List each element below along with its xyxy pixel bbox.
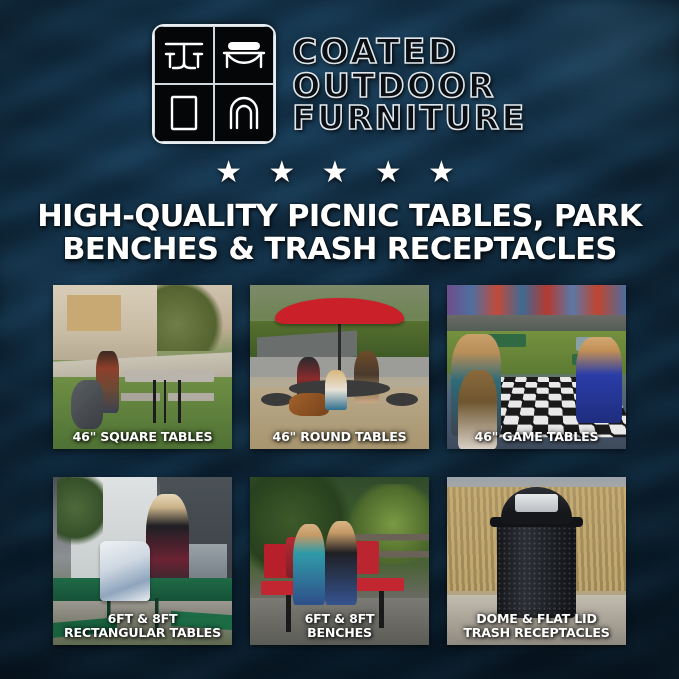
- star-rating: ★ ★ ★ ★ ★: [0, 158, 679, 188]
- product-tile-trash-receptacles[interactable]: DOME & FLAT LID TRASH RECEPTACLES: [447, 477, 626, 645]
- picnic-table-icon: [154, 26, 214, 84]
- trash-receptacle-icon: [154, 84, 214, 142]
- product-caption-line-1: 46" SQUARE TABLES: [73, 429, 213, 444]
- product-tile-round-tables[interactable]: 46" ROUND TABLES: [250, 285, 429, 449]
- product-caption: 6FT & 8FT RECTANGULAR TABLES: [57, 612, 228, 639]
- product-tile-game-tables[interactable]: 46" GAME TABLES: [447, 285, 626, 449]
- logo-icon-grid: [152, 24, 276, 144]
- product-caption-line-2: RECTANGULAR TABLES: [57, 626, 228, 639]
- product-tile-rectangular-tables[interactable]: 6FT & 8FT RECTANGULAR TABLES: [53, 477, 232, 645]
- product-caption-line-2: TRASH RECEPTACLES: [451, 626, 622, 639]
- product-tile-square-tables[interactable]: 46" SQUARE TABLES: [53, 285, 232, 449]
- brand-name-line-1: COATED: [292, 36, 526, 69]
- brand-logo: COATED OUTDOOR FURNITURE: [0, 24, 679, 144]
- brand-name-line-2: OUTDOOR: [292, 70, 526, 102]
- park-bench-icon: [214, 26, 274, 84]
- headline-line-1: HIGH-QUALITY PICNIC TABLES, PARK: [37, 199, 642, 234]
- product-caption: 46" ROUND TABLES: [254, 430, 425, 443]
- product-caption-line-2: BENCHES: [254, 626, 425, 639]
- brand-wordmark: COATED OUTDOOR FURNITURE: [292, 34, 526, 134]
- bike-rack-icon: [214, 84, 274, 142]
- banner-content: COATED OUTDOOR FURNITURE ★ ★ ★ ★ ★ HIGH-…: [0, 0, 679, 679]
- product-photo: [447, 285, 626, 449]
- brand-name-line-3: FURNITURE: [292, 102, 526, 134]
- promo-banner: COATED OUTDOOR FURNITURE ★ ★ ★ ★ ★ HIGH-…: [0, 0, 679, 679]
- product-photo: [53, 285, 232, 449]
- product-tile-benches[interactable]: 6FT & 8FT BENCHES: [250, 477, 429, 645]
- headline-line-2: BENCHES & TRASH RECEPTACLES: [24, 233, 655, 266]
- product-photo: [250, 285, 429, 449]
- product-grid: 46" SQUARE TABLES: [53, 285, 627, 645]
- product-caption: DOME & FLAT LID TRASH RECEPTACLES: [451, 612, 622, 639]
- product-caption: 6FT & 8FT BENCHES: [254, 612, 425, 639]
- headline: HIGH-QUALITY PICNIC TABLES, PARK BENCHES…: [24, 200, 655, 266]
- product-caption-line-1: 46" ROUND TABLES: [273, 429, 407, 444]
- product-caption-line-1: 46" GAME TABLES: [475, 429, 599, 444]
- product-caption: 46" GAME TABLES: [451, 430, 622, 443]
- product-caption: 46" SQUARE TABLES: [57, 430, 228, 443]
